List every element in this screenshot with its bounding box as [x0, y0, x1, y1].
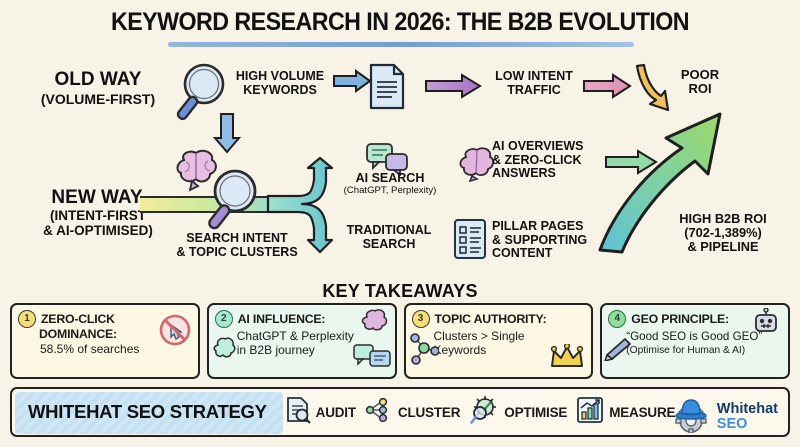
new-way-sublabel: (INTENT-FIRST & AI-OPTIMISED) — [10, 209, 186, 238]
takeaway-card-zero-click[interactable]: 1 ZERO-CLICK DOMINANCE: 58.5% of searche… — [10, 303, 200, 379]
pen-writing-icon — [603, 335, 633, 366]
badge-number: 1 — [18, 310, 36, 328]
traditional-search-label: TRADITIONAL SEARCH — [334, 224, 444, 251]
key-takeaways-heading: KEY TAKEAWAYS — [0, 281, 800, 302]
checklist-icon — [452, 218, 488, 260]
poor-roi-label: POOR ROI — [662, 68, 738, 96]
strategy-step-optimise[interactable]: OPTIMISE — [469, 395, 567, 430]
no-click-icon — [158, 313, 192, 352]
strategy-step-audit[interactable]: AUDIT — [285, 396, 356, 429]
document-icon — [366, 62, 408, 112]
high-volume-keywords-label: HIGH VOLUME KEYWORDS — [228, 70, 332, 97]
badge-number: 3 — [412, 310, 430, 328]
strategy-bar: WHITEHAT SEO STRATEGY AUDIT — [10, 387, 790, 437]
crown-icon — [549, 344, 585, 375]
strategy-step-cluster[interactable]: CLUSTER — [365, 396, 460, 429]
whitehat-seo-logo[interactable]: Whitehat SEO — [670, 395, 778, 438]
high-b2b-roi-label: HIGH B2B ROI (702-1,389%) & PIPELINE — [650, 212, 796, 253]
whitehat-hat-gear-icon — [670, 395, 712, 438]
brain-outline-icon — [212, 337, 238, 366]
card-title: TOPIC AUTHORITY: — [435, 312, 547, 326]
card-title: GEO PRINCIPLE: — [631, 312, 729, 326]
strategy-step-label: OPTIMISE — [504, 405, 567, 420]
card-title: ZERO-CLICK — [41, 312, 115, 326]
strategy-step-label: MEASURE — [609, 405, 675, 420]
arrow-right-pink — [582, 74, 632, 98]
cluster-nodes-icon — [365, 396, 393, 429]
document-search-icon — [285, 396, 311, 429]
robot-icon — [752, 308, 780, 341]
chat-bubbles-icon — [353, 343, 391, 374]
takeaway-cards: 1 ZERO-CLICK DOMINANCE: 58.5% of searche… — [10, 303, 790, 379]
badge-number: 2 — [215, 310, 233, 328]
card-title: AI INFLUENCE: — [238, 312, 326, 326]
takeaway-card-geo-principle[interactable]: 4 GEO PRINCIPLE: “Good SEO is Good GEO” … — [600, 303, 790, 379]
old-way-label: OLD WAY — [28, 70, 168, 91]
fork-arrow-teal — [268, 158, 344, 258]
arrow-right-purple — [424, 74, 482, 98]
logo-line1: Whitehat — [717, 402, 778, 417]
takeaway-card-ai-influence[interactable]: 2 AI INFLUENCE: ChatGPT & Perplexity in … — [207, 303, 397, 379]
ai-search-label: AI SEARCH — [338, 172, 442, 186]
magnifying-glass-icon — [206, 166, 268, 232]
strategy-label: WHITEHAT SEO STRATEGY — [28, 401, 267, 423]
gear-magnifier-icon — [469, 395, 499, 430]
strategy-step-label: CLUSTER — [398, 405, 460, 420]
card-header: 3 TOPIC AUTHORITY: — [412, 310, 586, 328]
low-intent-traffic-label: LOW INTENT TRAFFIC — [486, 70, 582, 97]
logo-text: Whitehat SEO — [717, 402, 778, 431]
cluster-nodes-icon — [409, 333, 439, 370]
bar-chart-icon — [576, 396, 604, 429]
page-title: KEYWORD RESEARCH IN 2026: THE B2B EVOLUT… — [28, 8, 772, 37]
strategy-steps: AUDIT CLUSTER — [285, 395, 676, 430]
title-underline — [168, 42, 634, 47]
brain-icon — [360, 309, 390, 338]
infographic-canvas: KEYWORD RESEARCH IN 2026: THE B2B EVOLUT… — [0, 0, 800, 447]
strategy-step-label: AUDIT — [316, 405, 356, 420]
logo-line2: SEO — [717, 417, 778, 432]
ai-search-sublabel: (ChatGPT, Perplexity) — [328, 186, 452, 196]
badge-number: 4 — [608, 310, 626, 328]
strategy-step-measure[interactable]: MEASURE — [576, 396, 675, 429]
old-way-sublabel: (VOLUME-FIRST) — [22, 92, 174, 107]
takeaway-card-topic-authority[interactable]: 3 TOPIC AUTHORITY: Clusters > Single Key… — [404, 303, 594, 379]
